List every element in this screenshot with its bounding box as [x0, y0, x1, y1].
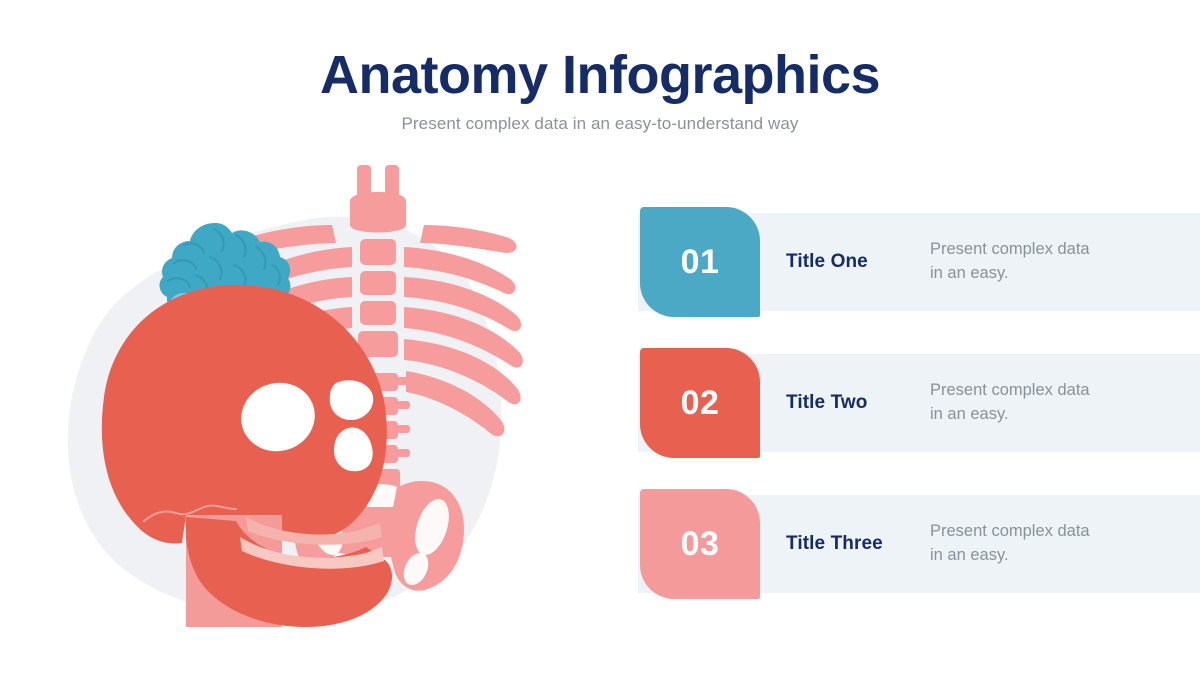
row-description: Present complex data in an easy.: [930, 213, 1180, 311]
row-title: Title One: [786, 213, 926, 311]
row-description-line-1: Present complex data: [930, 379, 1180, 403]
row-title: Title Three: [786, 495, 926, 593]
row-description-line-2: in an easy.: [930, 403, 1180, 427]
list-item[interactable]: 01 Title One Present complex data in an …: [638, 213, 1200, 311]
page-subtitle: Present complex data in an easy-to-under…: [0, 104, 1200, 134]
row-number-badge[interactable]: 02: [640, 348, 760, 458]
anatomy-illustration: [50, 165, 580, 645]
row-description-line-2: in an easy.: [930, 262, 1180, 286]
row-number-badge[interactable]: 03: [640, 489, 760, 599]
row-title: Title Two: [786, 354, 926, 452]
row-description-line-1: Present complex data: [930, 520, 1180, 544]
header: Anatomy Infographics Present complex dat…: [0, 0, 1200, 134]
row-description-line-2: in an easy.: [930, 544, 1180, 568]
list-item[interactable]: 03 Title Three Present complex data in a…: [638, 495, 1200, 593]
page-title: Anatomy Infographics: [0, 0, 1200, 104]
list-item[interactable]: 02 Title Two Present complex data in an …: [638, 354, 1200, 452]
feature-list: 01 Title One Present complex data in an …: [638, 213, 1200, 593]
row-number: 02: [681, 386, 720, 420]
row-description: Present complex data in an easy.: [930, 354, 1180, 452]
row-number: 03: [681, 527, 720, 561]
row-description: Present complex data in an easy.: [930, 495, 1180, 593]
row-description-line-1: Present complex data: [930, 238, 1180, 262]
row-number-badge[interactable]: 01: [640, 207, 760, 317]
row-number: 01: [681, 245, 720, 279]
